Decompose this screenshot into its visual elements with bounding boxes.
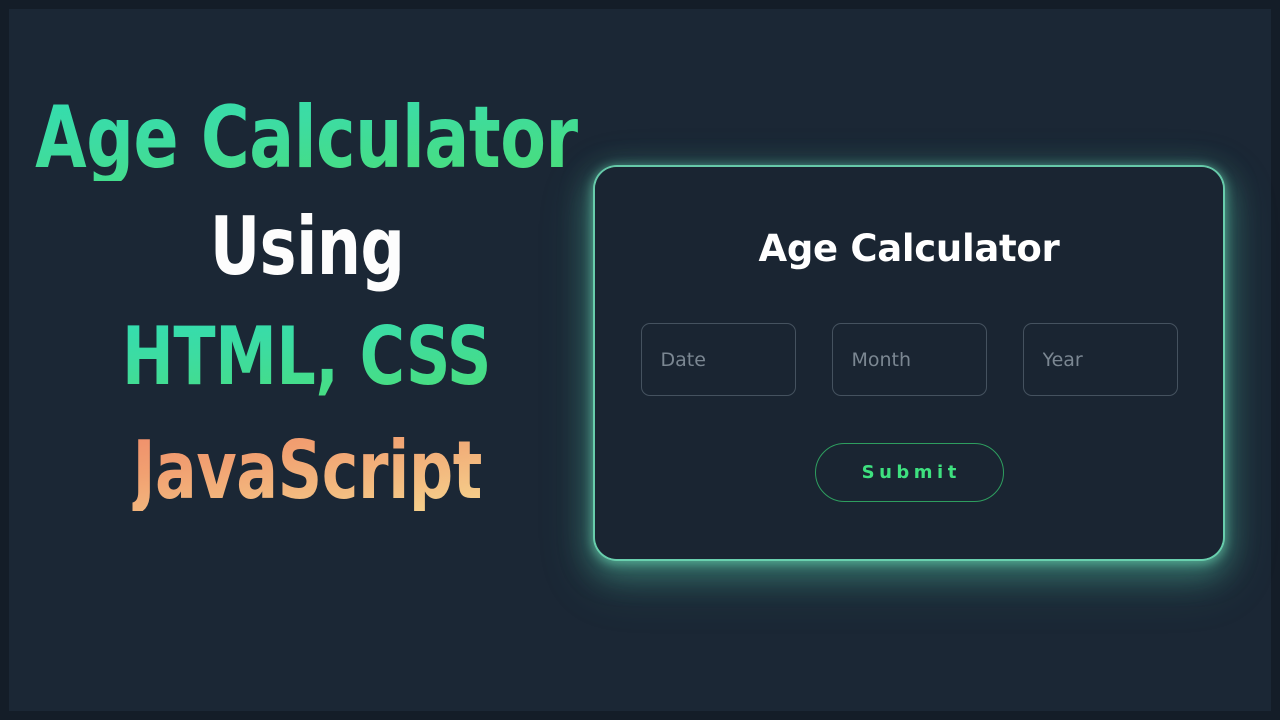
age-calculator-card: Age Calculator Submit: [595, 167, 1223, 559]
promo-line-javascript: JavaScript: [132, 431, 481, 511]
month-input[interactable]: [832, 323, 987, 396]
promo-line-title: Age Calculator: [36, 95, 579, 181]
thumbnail-stage: Age Calculator Using HTML, CSS JavaScrip…: [0, 0, 1280, 720]
page-background: Age Calculator Using HTML, CSS JavaScrip…: [9, 9, 1271, 711]
promo-line-using: Using: [210, 207, 405, 287]
card-title: Age Calculator: [759, 230, 1060, 267]
date-inputs-row: [595, 323, 1223, 396]
year-input[interactable]: [1023, 323, 1178, 396]
date-input[interactable]: [641, 323, 796, 396]
promo-line-html-css: HTML, CSS: [122, 317, 491, 397]
promo-text-block: Age Calculator Using HTML, CSS JavaScrip…: [29, 95, 585, 625]
submit-button[interactable]: Submit: [815, 443, 1004, 502]
age-calculator-card-wrapper: Age Calculator Submit: [595, 167, 1223, 559]
